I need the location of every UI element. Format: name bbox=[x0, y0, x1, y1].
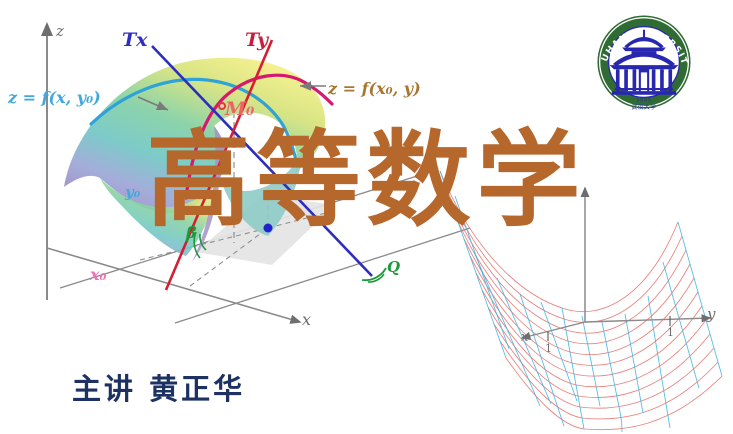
wuhan-university-logo: WUHAN UNIVERSITY bbox=[592, 10, 696, 114]
point-label-x0: x₀ bbox=[90, 265, 107, 284]
tangent-label-ty: Ty bbox=[245, 29, 268, 51]
axis-label-x: x bbox=[302, 310, 311, 329]
logo-year: 1893 bbox=[637, 98, 652, 104]
point-label-m0: M₀ bbox=[225, 98, 254, 120]
axis-label-y-right: y bbox=[707, 305, 715, 323]
tick-label-y1: 1 bbox=[667, 326, 674, 339]
tangent-label-tx: Tx bbox=[122, 29, 147, 51]
tick-label-x1: 1 bbox=[545, 342, 552, 355]
curve-label-z-f-x-y0: z = f(x, y₀) bbox=[8, 88, 101, 107]
page-title: 高等数学 bbox=[0, 128, 733, 232]
axis-label-x-right: x bbox=[521, 330, 528, 345]
presenter-name: 主讲 黄正华 bbox=[72, 366, 245, 408]
curve-label-z-f-x0-y: z = f(x₀, y) bbox=[328, 79, 421, 98]
point-label-q: Q bbox=[387, 258, 400, 276]
axis-label-z: z bbox=[56, 22, 64, 40]
slide-canvas: 1 1 z = f(x, y₀) z = f(x₀, y) Tx Ty M₀ x… bbox=[0, 0, 733, 434]
